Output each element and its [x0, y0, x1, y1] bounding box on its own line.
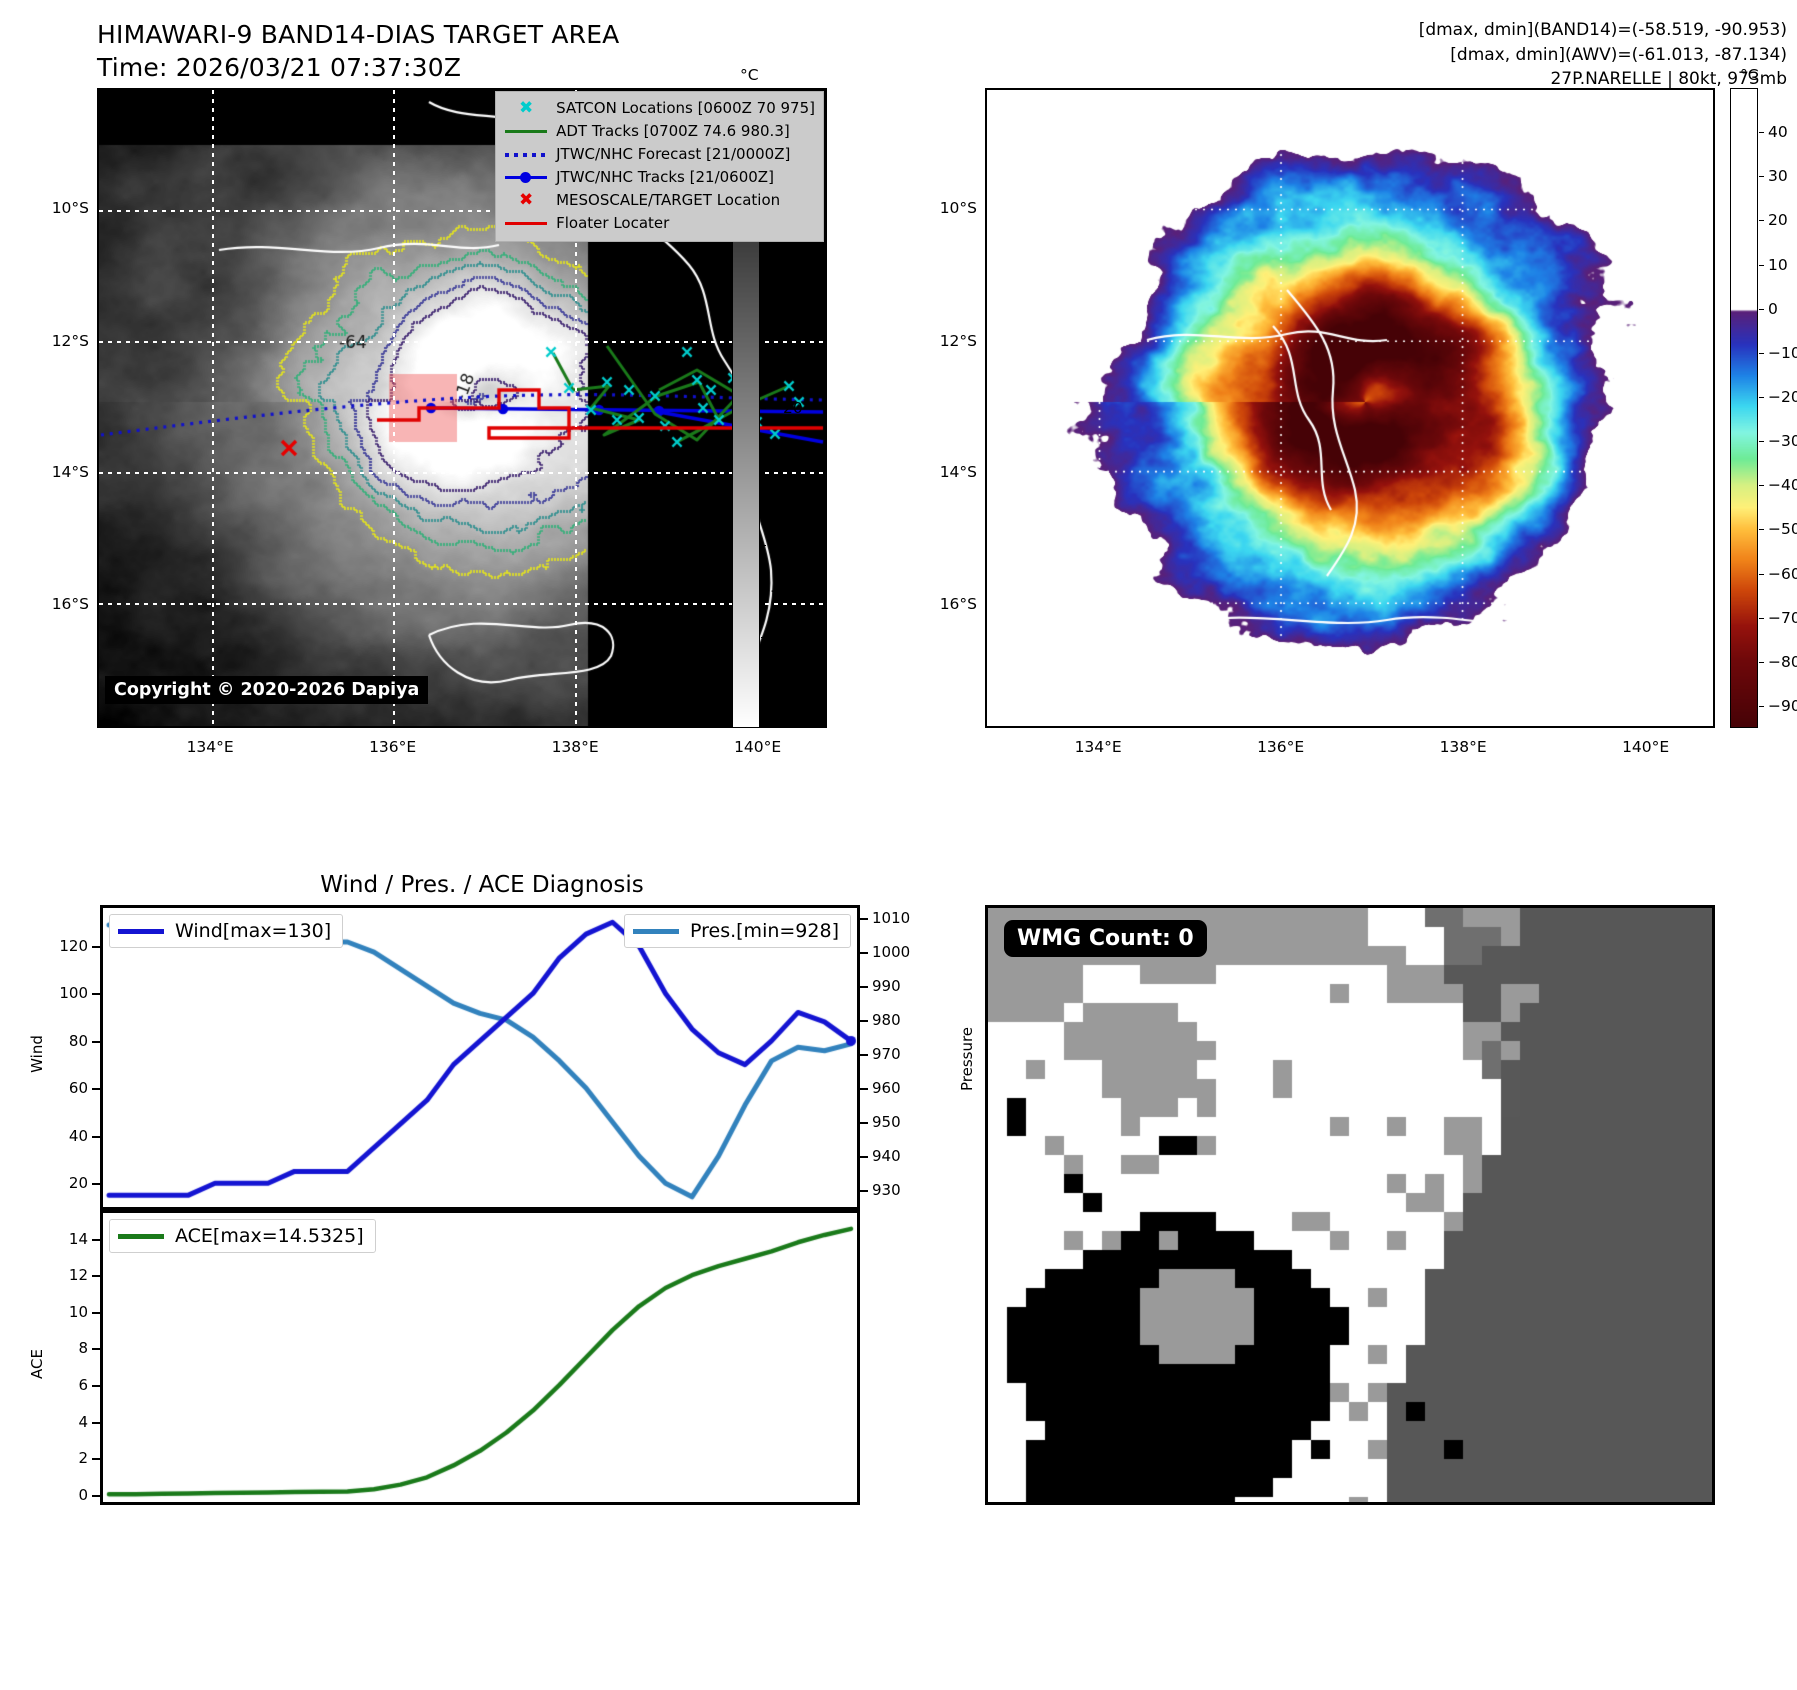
colorbar-tick-label: −10	[1768, 344, 1797, 362]
lon-tick-label: 136°E	[369, 738, 416, 756]
pressure-tick-label: 1000	[872, 943, 910, 961]
wind-tick-mark	[92, 1183, 100, 1185]
enhanced-ir-map[interactable]	[985, 88, 1715, 728]
wind-tick-mark	[92, 1088, 100, 1090]
colorbar-tick-label: 30	[1768, 167, 1788, 185]
lat-tick-label: 14°S	[29, 463, 89, 481]
ace-tick-mark	[92, 1348, 100, 1350]
colorbar-tick-label: −60	[770, 582, 803, 600]
ace-tick-label: 8	[40, 1339, 88, 1357]
ace-tick-label: 14	[40, 1230, 88, 1248]
colorbar-tick-label: −80	[770, 673, 803, 691]
colorbar-tick-label: −40	[770, 490, 803, 508]
colorbar-tick-mark	[1759, 397, 1764, 398]
lon-tick-label: 140°E	[734, 738, 781, 756]
ace-plot[interactable]: ACE[max=14.5325]	[100, 1210, 860, 1505]
pressure-tick-label: 1010	[872, 909, 910, 927]
header-stats: [dmax, dmin](BAND14)=(-58.519, -90.953) …	[1419, 18, 1787, 92]
pressure-tick-mark	[860, 918, 868, 920]
legend-label: JTWC/NHC Forecast [21/0000Z]	[556, 147, 790, 162]
ace-tick-mark	[92, 1312, 100, 1314]
pressure-tick-mark	[860, 1156, 868, 1158]
colorbar-tick-mark	[761, 545, 766, 546]
colorbar-tick-mark	[761, 637, 766, 638]
colorbar-tick-label: −70	[770, 628, 803, 646]
colorbar-tick-mark	[1759, 485, 1764, 486]
pressure-axis-title: Pressure	[958, 1027, 976, 1091]
wind-legend-label: Wind[max=130]	[175, 920, 331, 942]
dmax-band14-text: [dmax, dmin](BAND14)=(-58.519, -90.953)	[1419, 18, 1787, 43]
ace-tick-label: 2	[40, 1449, 88, 1467]
lon-tick-label: 134°E	[1075, 738, 1122, 756]
colorbar-tick-mark	[1759, 220, 1764, 221]
pressure-tick-mark	[860, 952, 868, 954]
colorbar-tick-mark	[1759, 309, 1764, 310]
ace-axis-title: ACE	[28, 1349, 46, 1379]
pressure-tick-mark	[860, 1020, 868, 1022]
colorbar-tick-label: −40	[1768, 476, 1797, 494]
title-line: HIMAWARI-9 BAND14-DIAS TARGET AREA	[97, 18, 857, 51]
ace-tick-label: 0	[40, 1486, 88, 1504]
forecast-dotted-line-icon	[504, 153, 548, 157]
ace-tick-mark	[92, 1458, 100, 1460]
track-line-dot-icon	[504, 176, 548, 179]
colorbar-tick-mark	[1759, 132, 1764, 133]
lon-tick-label: 134°E	[187, 738, 234, 756]
colorbar-tick-label: −30	[770, 445, 803, 463]
ace-tick-mark	[92, 1422, 100, 1424]
copyright-label: Copyright © 2020-2026 Dapiya	[105, 676, 428, 704]
colorbar-tick-mark	[761, 591, 766, 592]
satcon-x-icon: ✖	[504, 100, 548, 117]
wind-line-icon	[118, 929, 164, 934]
colorbar-tick-mark	[1759, 662, 1764, 663]
diagnosis-title: Wind / Pres. / ACE Diagnosis	[97, 872, 867, 898]
legend-item-mesoscale: ✖ MESOSCALE/TARGET Location	[504, 189, 815, 212]
colorbar-tick-mark	[1759, 529, 1764, 530]
lat-gridline-2	[99, 472, 825, 474]
pressure-tick-mark	[860, 1122, 868, 1124]
ir-satellite-map[interactable]: ✖ SATCON Locations [0600Z 70 975] ADT Tr…	[97, 88, 827, 728]
colorbar-tick-mark	[761, 362, 766, 363]
wind-tick-label: 60	[40, 1079, 88, 1097]
lat-tick-label: 12°S	[917, 332, 977, 350]
legend-item-adt: ADT Tracks [0700Z 74.6 980.3]	[504, 120, 815, 143]
colorbar-tick-label: 0	[1768, 300, 1778, 318]
legend-item-forecast: JTWC/NHC Forecast [21/0000Z]	[504, 143, 815, 166]
legend-item-jtwc-tracks: JTWC/NHC Tracks [21/0600Z]	[504, 166, 815, 189]
legend-label: JTWC/NHC Tracks [21/0600Z]	[556, 170, 774, 185]
wind-tick-mark	[92, 946, 100, 948]
ace-tick-label: 10	[40, 1303, 88, 1321]
legend-label: MESOSCALE/TARGET Location	[556, 193, 780, 208]
ace-tick-label: 4	[40, 1413, 88, 1431]
pressure-tick-mark	[860, 1054, 868, 1056]
colorbar-tick-mark	[761, 408, 766, 409]
floater-line-icon	[504, 222, 548, 225]
wind-axis-title: Wind	[28, 1035, 46, 1073]
wmg-classification-panel[interactable]: WMG Count: 0	[985, 905, 1715, 1505]
legend-item-floater: Floater Locater	[504, 212, 815, 235]
legend-item-satcon: ✖ SATCON Locations [0600Z 70 975]	[504, 97, 815, 120]
lat-gridline-3	[99, 603, 825, 605]
wind-pressure-canvas	[103, 908, 857, 1207]
ace-tick-mark	[92, 1239, 100, 1241]
pressure-line-icon	[633, 929, 679, 934]
pressure-legend-label: Pres.[min=928]	[690, 920, 839, 942]
colorbar-tick-mark	[1759, 265, 1764, 266]
ace-tick-mark	[92, 1385, 100, 1387]
colorbar-tick-mark	[1759, 574, 1764, 575]
legend-label: SATCON Locations [0600Z 70 975]	[556, 101, 815, 116]
lat-tick-label: 10°S	[29, 199, 89, 217]
ace-tick-mark	[92, 1275, 100, 1277]
pressure-tick-label: 980	[872, 1011, 901, 1029]
colorbar-tick-label: 10	[770, 262, 790, 280]
colorbar-tick-label: −90	[1768, 697, 1797, 715]
ace-canvas	[103, 1213, 857, 1502]
colorbar-tick-mark	[1759, 441, 1764, 442]
target-x-icon: ✖	[504, 192, 548, 209]
colorbar-tick-mark	[1759, 176, 1764, 177]
colorbar-tick-mark	[1759, 353, 1764, 354]
enhanced-ir-canvas	[987, 90, 1713, 726]
pressure-tick-label: 970	[872, 1045, 901, 1063]
pressure-tick-label: 930	[872, 1181, 901, 1199]
wmg-raster-canvas	[988, 908, 1712, 1502]
wind-legend: Wind[max=130]	[109, 914, 343, 948]
pressure-tick-label: 960	[872, 1079, 901, 1097]
pressure-tick-mark	[860, 1190, 868, 1192]
wind-tick-label: 100	[40, 984, 88, 1002]
lat-tick-label: 16°S	[917, 595, 977, 613]
lon-gridline-0	[212, 90, 214, 726]
wind-tick-mark	[92, 1041, 100, 1043]
lon-tick-label: 136°E	[1257, 738, 1304, 756]
ace-tick-label: 12	[40, 1266, 88, 1284]
lon-tick-label: 138°E	[1440, 738, 1487, 756]
colorbar-tick-label: 0	[770, 308, 780, 326]
colorbar-tick-mark	[761, 271, 766, 272]
colorbar-tick-mark	[761, 499, 766, 500]
wind-tick-label: 20	[40, 1174, 88, 1192]
lat-tick-label: 14°S	[917, 463, 977, 481]
pressure-legend: Pres.[min=928]	[624, 914, 851, 948]
right-colorbar	[1730, 88, 1758, 728]
lat-gridline-1	[99, 341, 825, 343]
lat-tick-label: 16°S	[29, 595, 89, 613]
ace-tick-label: 6	[40, 1376, 88, 1394]
lon-gridline-1	[393, 90, 395, 726]
pressure-tick-mark	[860, 986, 868, 988]
colorbar-tick-label: −20	[770, 399, 803, 417]
wind-tick-label: 40	[40, 1127, 88, 1145]
right-colorbar-unit: °C	[1740, 66, 1759, 84]
wmg-count-badge: WMG Count: 0	[1004, 920, 1207, 957]
lon-tick-label: 140°E	[1622, 738, 1669, 756]
colorbar-tick-label: −50	[770, 536, 803, 554]
colorbar-tick-label: 10	[1768, 256, 1788, 274]
colorbar-tick-label: −60	[1768, 565, 1797, 583]
colorbar-tick-label: −70	[1768, 609, 1797, 627]
wind-tick-label: 80	[40, 1032, 88, 1050]
legend-label: ADT Tracks [0700Z 74.6 980.3]	[556, 124, 790, 139]
right-colorbar-gradient	[1731, 89, 1757, 727]
colorbar-tick-mark	[761, 682, 766, 683]
legend-label: Floater Locater	[556, 216, 669, 231]
colorbar-tick-mark	[761, 454, 766, 455]
lon-tick-label: 138°E	[552, 738, 599, 756]
colorbar-tick-label: 40	[1768, 123, 1788, 141]
colorbar-tick-label: −80	[1768, 653, 1797, 671]
dmax-awv-text: [dmax, dmin](AWV)=(-61.013, -87.134)	[1419, 43, 1787, 68]
pressure-tick-label: 950	[872, 1113, 901, 1131]
colorbar-tick-mark	[1759, 706, 1764, 707]
lat-tick-label: 10°S	[917, 199, 977, 217]
colorbar-tick-label: −30	[1768, 432, 1797, 450]
colorbar-tick-label: −10	[770, 353, 803, 371]
adt-line-icon	[504, 130, 548, 133]
left-colorbar-unit: °C	[740, 66, 759, 84]
ace-legend: ACE[max=14.5325]	[109, 1219, 376, 1253]
ace-tick-mark	[92, 1495, 100, 1497]
wind-tick-label: 120	[40, 937, 88, 955]
wind-tick-mark	[92, 1136, 100, 1138]
wind-pressure-plot[interactable]: Wind[max=130] Pres.[min=928]	[100, 905, 860, 1210]
colorbar-tick-mark	[1759, 618, 1764, 619]
colorbar-tick-label: 20	[1768, 211, 1788, 229]
ace-line-icon	[118, 1234, 164, 1239]
colorbar-tick-label: −20	[1768, 388, 1797, 406]
lat-tick-label: 12°S	[29, 332, 89, 350]
wind-tick-mark	[92, 993, 100, 995]
map-legend: ✖ SATCON Locations [0600Z 70 975] ADT Tr…	[495, 91, 824, 242]
pressure-tick-label: 990	[872, 977, 901, 995]
colorbar-tick-mark	[761, 317, 766, 318]
ace-legend-label: ACE[max=14.5325]	[175, 1225, 364, 1247]
colorbar-tick-label: −50	[1768, 520, 1797, 538]
pressure-tick-mark	[860, 1088, 868, 1090]
pressure-tick-label: 940	[872, 1147, 901, 1165]
